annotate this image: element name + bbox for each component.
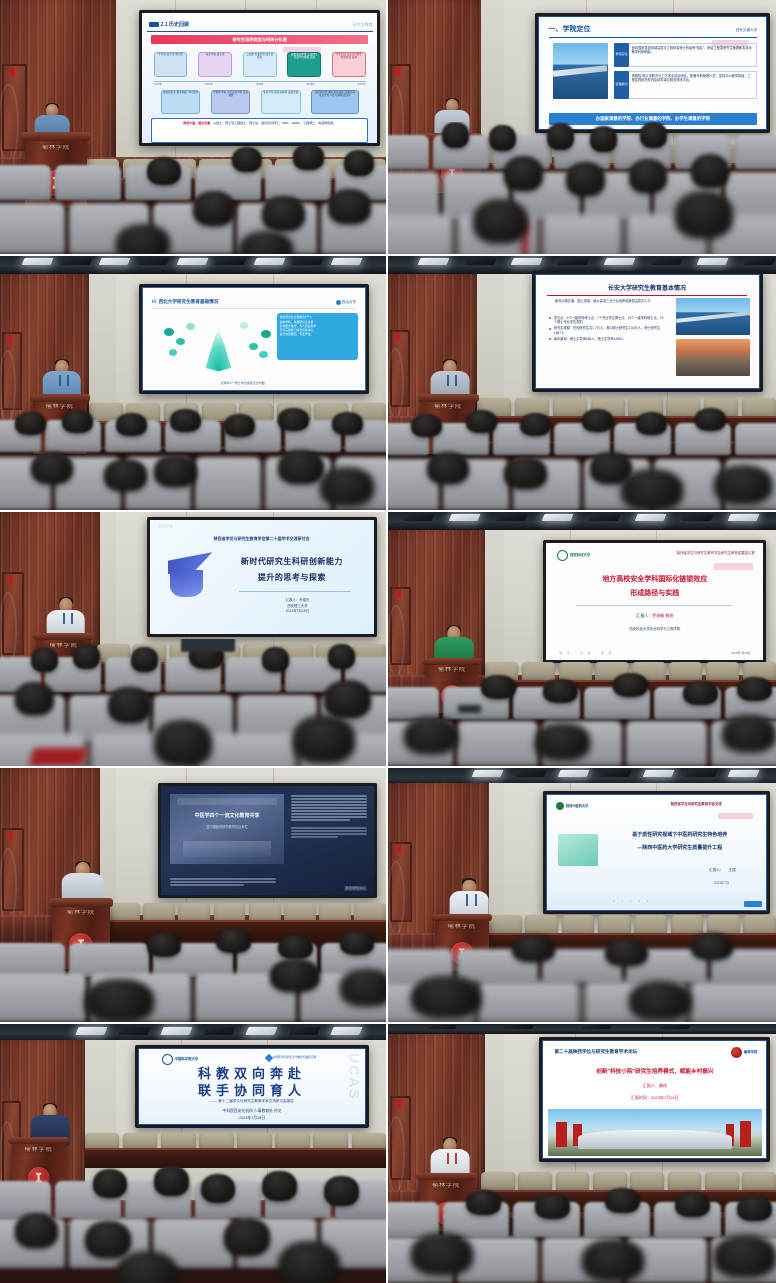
- audience-4: [388, 403, 776, 510]
- slide10-header: 第二十届陕西学位与研究生教育学术论坛: [554, 1049, 637, 1055]
- slide6-date: 2023年7月18日: [731, 652, 750, 655]
- slide4-header: 长安大学研究生教育基本情况: [608, 286, 686, 294]
- door: [390, 587, 411, 665]
- audience-5: [0, 639, 386, 766]
- lanyard: [63, 613, 73, 624]
- slide4-bullet-3: 每年新增：博士生导师458人，硕士生导师1455人: [549, 337, 665, 342]
- slide4-bullet-1: 学位点：9个一级学科博士点、7个专业学位博士点、33个一级学科硕士点、19个硕士…: [549, 316, 665, 326]
- podium-plaque: 榆林学院: [16, 1147, 61, 1154]
- slide10-title: 创新"科技小院"研究生培养模式，赋能乡村振兴: [557, 1069, 753, 1076]
- audience-7: [0, 920, 386, 1022]
- slide1-topbox-5: 学术学位 专业学位博士 管理办法 发布: [332, 52, 366, 77]
- door: [2, 332, 22, 411]
- exit-sign: [396, 333, 400, 340]
- slide5-conference: 陕西省学位与研究生教育学会第二十届学术交流研讨会: [163, 536, 360, 541]
- exit-sign: [397, 845, 401, 853]
- photo-1: 2.1 历史回顾 研究生教育 研究生培养类型与时间分化图 学术型 硕士生 博士生…: [0, 0, 388, 256]
- slide6-brand-left: 西安科技大学: [570, 553, 590, 557]
- slide5-title-1: 新时代研究生科研创新能力: [221, 557, 362, 567]
- slide1-year-4: 2009年: [306, 83, 314, 86]
- slide1-topbox-1: 学术型 硕士生 博士生: [154, 52, 188, 77]
- slide6-presenter-label: 汇报人：: [636, 613, 652, 618]
- door: [390, 330, 410, 407]
- slide8-presenter-label: 汇报人：: [709, 868, 723, 872]
- slide7-footer-brand: 教育部学位中心: [344, 886, 368, 891]
- slide7-article-title: 中医学四个一流文化教育共享: [179, 813, 275, 819]
- slide9-title-1: 科教双向奔赴: [153, 1066, 352, 1082]
- slide1-topbox-4: 首批试点单位 工程博士 专业学位授权 高校: [287, 52, 321, 77]
- slide4-image-aerial: [676, 339, 750, 376]
- slide4-bullet-2: 研究生规模：在校研究生共1.7万人，其中硕士研究生1.54万人，博士研究生168…: [549, 326, 665, 336]
- slide9-brand-right: 中国科学院西安光学精密机械研究所: [274, 1056, 317, 1059]
- photo-10: 第二十届陕西学位与研究生教育学术论坛 榆林学院 创新"科技小院"研究生培养模式，…: [388, 1024, 776, 1283]
- slide9-presenter: 中科院西安光机所 人事教育处 孙文: [162, 1109, 343, 1114]
- projection-screen: 陕 西 | 学 会 陕西省学位与研究生教育学会第二十届学术交流研讨会 新时代研究…: [147, 517, 377, 637]
- photo-8: 陕西中医药大学 陕西省学位与研究生教育学会交流 基于质性研究视域下中医药研究生特…: [388, 768, 776, 1024]
- slide1-botbox-3: 专业学位 研究生教育 发展方案: [261, 90, 301, 115]
- slide6-conference: 陕西省学位与研究生教育学会研究生教育成果奖汇报: [629, 551, 755, 555]
- slide5-presenter-label: 汇报人：: [286, 598, 300, 602]
- slide3-brand: 西北大学: [342, 300, 356, 304]
- slide1-topbox-2: 专业学位 硕士生: [198, 52, 232, 77]
- slide1-header: 2.1 历史回顾: [161, 22, 189, 28]
- door: [390, 842, 412, 922]
- slide10-brand: 榆林学院: [744, 1050, 758, 1054]
- podium-plaque: 榆林学院: [57, 910, 106, 919]
- audience-6: [388, 664, 776, 766]
- audience-1: [0, 137, 386, 254]
- slide1-title-bar: 研究生培养类型与时间分化图: [151, 35, 368, 44]
- projection-screen: 第二十届陕西学位与研究生教育学术论坛 榆林学院 创新"科技小院"研究生培养模式，…: [539, 1037, 770, 1162]
- slide1-year-3: 1996年: [255, 83, 263, 86]
- slide10-presenter-label: 汇报人：: [643, 1083, 659, 1088]
- slide5-date: 2023年7月18日: [235, 609, 360, 615]
- audience-9: [0, 1159, 386, 1283]
- photo-collage: 2.1 历史回顾 研究生教育 研究生培养类型与时间分化图 学术型 硕士生 博士生…: [0, 0, 776, 1283]
- slide1-brand: 研究生教育: [353, 22, 373, 27]
- projection-screen: 长安大学研究生教育基本情况 面向公路交通、国土资源、城乡建设三大行业培养创新型高…: [532, 271, 763, 391]
- slide4-intro: 面向公路交通、国土资源、城乡建设三大行业培养创新型高层次人才: [549, 299, 665, 304]
- photo-3: /// 西北大学研究生教育基础情况 西北大学 我: [0, 256, 388, 512]
- exit-sign: [8, 335, 12, 343]
- exit-sign: [9, 832, 13, 840]
- slide1-year-5: 2020年: [357, 83, 365, 86]
- ceiling-lights: [0, 256, 386, 274]
- slide7-article-subtitle: 暨中国医药研究教育论坛专栏: [181, 825, 273, 829]
- slide8-brand-left: 陕西中医药大学: [566, 804, 588, 808]
- slide6-title-2: 形成路径与实践: [559, 590, 750, 599]
- slide4-image-bridge: [676, 298, 750, 335]
- slide10-campus-photo: [548, 1109, 762, 1156]
- slide3-callout-line5: 提升的质量和、专业学位。: [280, 332, 355, 336]
- slide2-block1-label: 学院定位: [614, 43, 628, 68]
- photo-2: 一、学院定位 西安交通大学 学院定位 面向国家急需领域高层次工程领军博士的培养"…: [388, 0, 776, 256]
- slide9-brand-left: 中国科学院大学: [175, 1057, 199, 1061]
- lanyard: [466, 894, 476, 905]
- lanyard: [447, 1153, 457, 1164]
- audience-10: [388, 1179, 776, 1283]
- slide3-caption: 近两年X个博士学位授权点分布图: [187, 382, 298, 386]
- slide5-presenter: 许增光: [299, 598, 309, 602]
- projection-screen: UCAS 中国科学院大学 中国科学院西安光学精密机械研究所 科教双向奔赴 联手协…: [135, 1045, 369, 1129]
- projection-screen: 2.1 历史回顾 研究生教育 研究生培养类型与时间分化图 学术型 硕士生 博士生…: [139, 10, 380, 146]
- slide10-presenter: 康伟: [659, 1083, 667, 1088]
- slide2-block2-text: 按照校-院从事职责分工与事业综合研定，配备专职管理人员，坚持办公教学场地，工程实…: [629, 71, 758, 99]
- audience-8: [388, 925, 776, 1022]
- slide10-date-label: 汇报时间：: [631, 1095, 651, 1100]
- slide9-subtitle: —— 第十二届学位与研究生教育学术交流研讨会报告: [166, 1099, 338, 1103]
- slide1-footer-text: 从硕士、博士到工程硕士、博士后、联合培养博士、MBA、EMBA、工程博士、本硕博…: [213, 121, 336, 125]
- slide1-year-1: 1978年: [154, 83, 162, 86]
- slide9-date: 2023年7月18日: [162, 1116, 343, 1121]
- slide8-presenter: 王斌: [728, 868, 735, 872]
- slide2-block1-text: 面向国家急需领域高层次工程领军博士的培养"特区"，承载工程类研究生管理和实体化教…: [629, 43, 758, 68]
- lanyard: [447, 375, 457, 386]
- ceiling-lights: [388, 1024, 776, 1034]
- slide8-date: 2023年7月: [714, 881, 729, 885]
- door: [2, 828, 24, 910]
- slide9-title-2: 联手协同育人: [153, 1083, 352, 1099]
- projection-screen: 陕西中医药大学 陕西省学位与研究生教育学会交流 基于质性研究视域下中医药研究生特…: [543, 791, 770, 914]
- ceiling-lights: [388, 512, 776, 530]
- slide1-botbox-4: 深化新时代 教育评价改革 总体方案 专业学位人才 培养模式改革: [311, 90, 359, 115]
- exit-sign: [396, 68, 400, 76]
- projection-screen: 中医学四个一流文化教育共享 暨中国医药研究教育论坛专栏: [158, 783, 376, 898]
- phone-filming: [458, 705, 481, 713]
- photo-7: 中医学四个一流文化教育共享 暨中国医药研究教育论坛专栏: [0, 768, 388, 1024]
- slide8-conference: 陕西省学位与研究生教育学会交流: [635, 802, 758, 806]
- photo-5: 陕 西 | 学 会 陕西省学位与研究生教育学会第二十届学术交流研讨会 新时代研究…: [0, 512, 388, 768]
- projection-screen: 西安科技大学 陕西省学位与研究生教育学会研究生教育成果奖汇报 地方高校安全学科国…: [543, 540, 766, 663]
- slide8-title-1: 基于质性研究视域下中医药研究生特色培养: [602, 832, 758, 838]
- slide2-photo: [553, 43, 607, 99]
- slide1-year-2: 1984年: [205, 83, 213, 86]
- audience-2: [388, 122, 776, 254]
- slide2-header: 一、学院定位: [549, 26, 591, 35]
- exit-sign: [397, 1100, 401, 1108]
- slide1-botbox-2: 学位授予和 人才培养学科 目录调整: [211, 90, 251, 115]
- photo-4: 长安大学研究生教育基本情况 面向公路交通、国土资源、城乡建设三大行业培养创新型高…: [388, 256, 776, 512]
- slide2-block2-label: 管理模式: [614, 71, 628, 99]
- photo-9: UCAS 中国科学院大学 中国科学院西安光学精密机械研究所 科教双向奔赴 联手协…: [0, 1024, 388, 1283]
- exit-sign: [9, 576, 13, 584]
- projection-screen: 一、学院定位 西安交通大学 学院定位 面向国家急需领域高层次工程领军博士的培养"…: [535, 13, 770, 133]
- red-banner: [29, 748, 87, 766]
- slide1-botbox-1: 恢复研究生 招生制度 学位条例: [161, 90, 201, 115]
- slide10-date: 2023年7月18日: [651, 1095, 679, 1100]
- door: [390, 1096, 411, 1180]
- slide1-footer-label: 类型丰富、层次完善：: [183, 121, 213, 125]
- audience-3: [0, 403, 386, 510]
- lanyard: [59, 375, 69, 386]
- slide3-header: 西北大学研究生教育基础情况: [159, 299, 219, 305]
- slide5-title-2: 提升的思考与探索: [221, 573, 362, 583]
- photo-6: 西安科技大学 陕西省学位与研究生教育学会研究生教育成果奖汇报 地方高校安全学科国…: [388, 512, 776, 768]
- slide1-topbox-3: 工程类 专业学位 硕士研究生: [243, 52, 277, 77]
- slide8-thumbnail: [558, 834, 597, 866]
- phone-filming: [181, 639, 235, 652]
- slide6-title-1: 地方高校安全学科国际化链锁效应: [559, 576, 750, 585]
- slide6-affiliation: 西安科技大学安全科学与工程学院: [559, 627, 750, 631]
- slide2-brand: 西安交通大学: [736, 28, 758, 32]
- slide6-presenter: 罗振敏 教授: [652, 613, 673, 618]
- slide3-callout: 我校研究生总规模约7千人 我校学科、集群研究生总量 有效服务地方、为人员提供学 …: [277, 313, 358, 360]
- exit-sign: [397, 590, 401, 598]
- slide8-title-2: ---陕西中医药大学研究生质量提升工程: [602, 845, 758, 851]
- projection-screen: /// 西北大学研究生教育基础情况 西北大学 我: [139, 284, 369, 394]
- exit-sign: [10, 68, 15, 76]
